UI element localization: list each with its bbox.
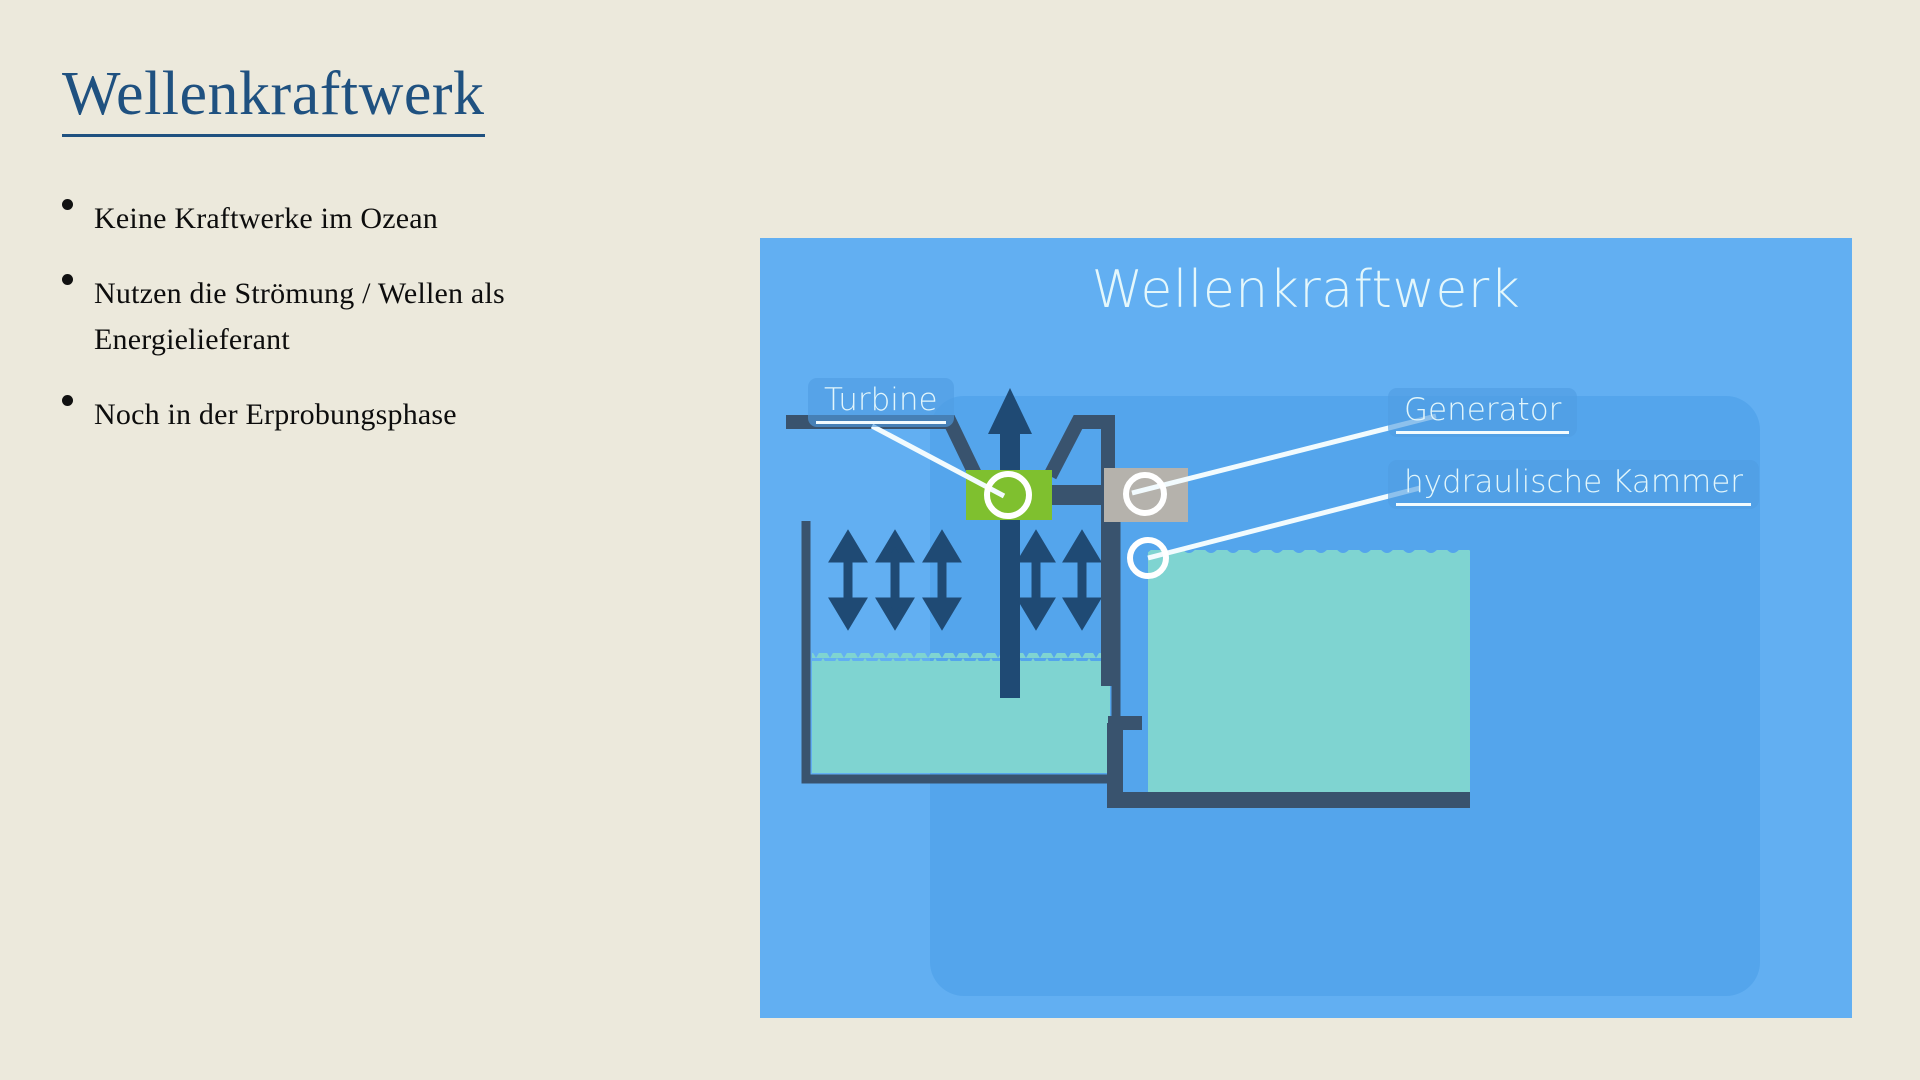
bullet-list: Keine Kraftwerke im Ozean Nutzen die Str… <box>56 196 556 466</box>
bullet-text: Nutzen die Strömung / Wellen als Energie… <box>94 277 505 357</box>
list-item: Noch in der Erprobungsphase <box>56 392 556 439</box>
air-up-arrowhead <box>988 388 1032 434</box>
list-item: Nutzen die Strömung / Wellen als Energie… <box>56 271 556 364</box>
bullet-dot-icon <box>62 274 73 285</box>
air-flow-arrow <box>836 538 860 622</box>
air-flow-arrow <box>1024 538 1048 622</box>
air-chamber-group <box>806 521 1116 779</box>
air-flow-arrow <box>1070 538 1094 622</box>
air-flow-arrow <box>930 538 954 622</box>
label-turbine: Turbine <box>808 378 954 427</box>
turbine-shaft-lower <box>1000 528 1020 698</box>
left-chamber-water <box>812 661 1110 773</box>
bullet-text: Keine Kraftwerke im Ozean <box>94 202 438 235</box>
leader-line-turbine <box>872 426 1004 496</box>
list-item: Keine Kraftwerke im Ozean <box>56 196 556 243</box>
bullet-dot-icon <box>62 395 73 406</box>
page-title: Wellenkraftwerk <box>62 62 485 137</box>
right-chamber-water <box>1148 550 1470 800</box>
diagram-image: Wellenkraftwerk <box>760 238 1852 1018</box>
wave-power-plant-schematic <box>760 238 1852 1018</box>
label-generator: Generator <box>1388 388 1577 437</box>
turbine-body <box>966 470 1052 520</box>
drive-coupling <box>1052 485 1104 505</box>
left-chamber-water-surface <box>812 653 1110 663</box>
air-flow-arrow <box>883 538 907 622</box>
air-flow-arrows <box>836 538 1094 622</box>
bullet-text: Noch in der Erprobungsphase <box>94 398 457 431</box>
label-hydraulic-chamber: hydraulische Kammer <box>1388 460 1759 509</box>
bullet-dot-icon <box>62 199 73 210</box>
